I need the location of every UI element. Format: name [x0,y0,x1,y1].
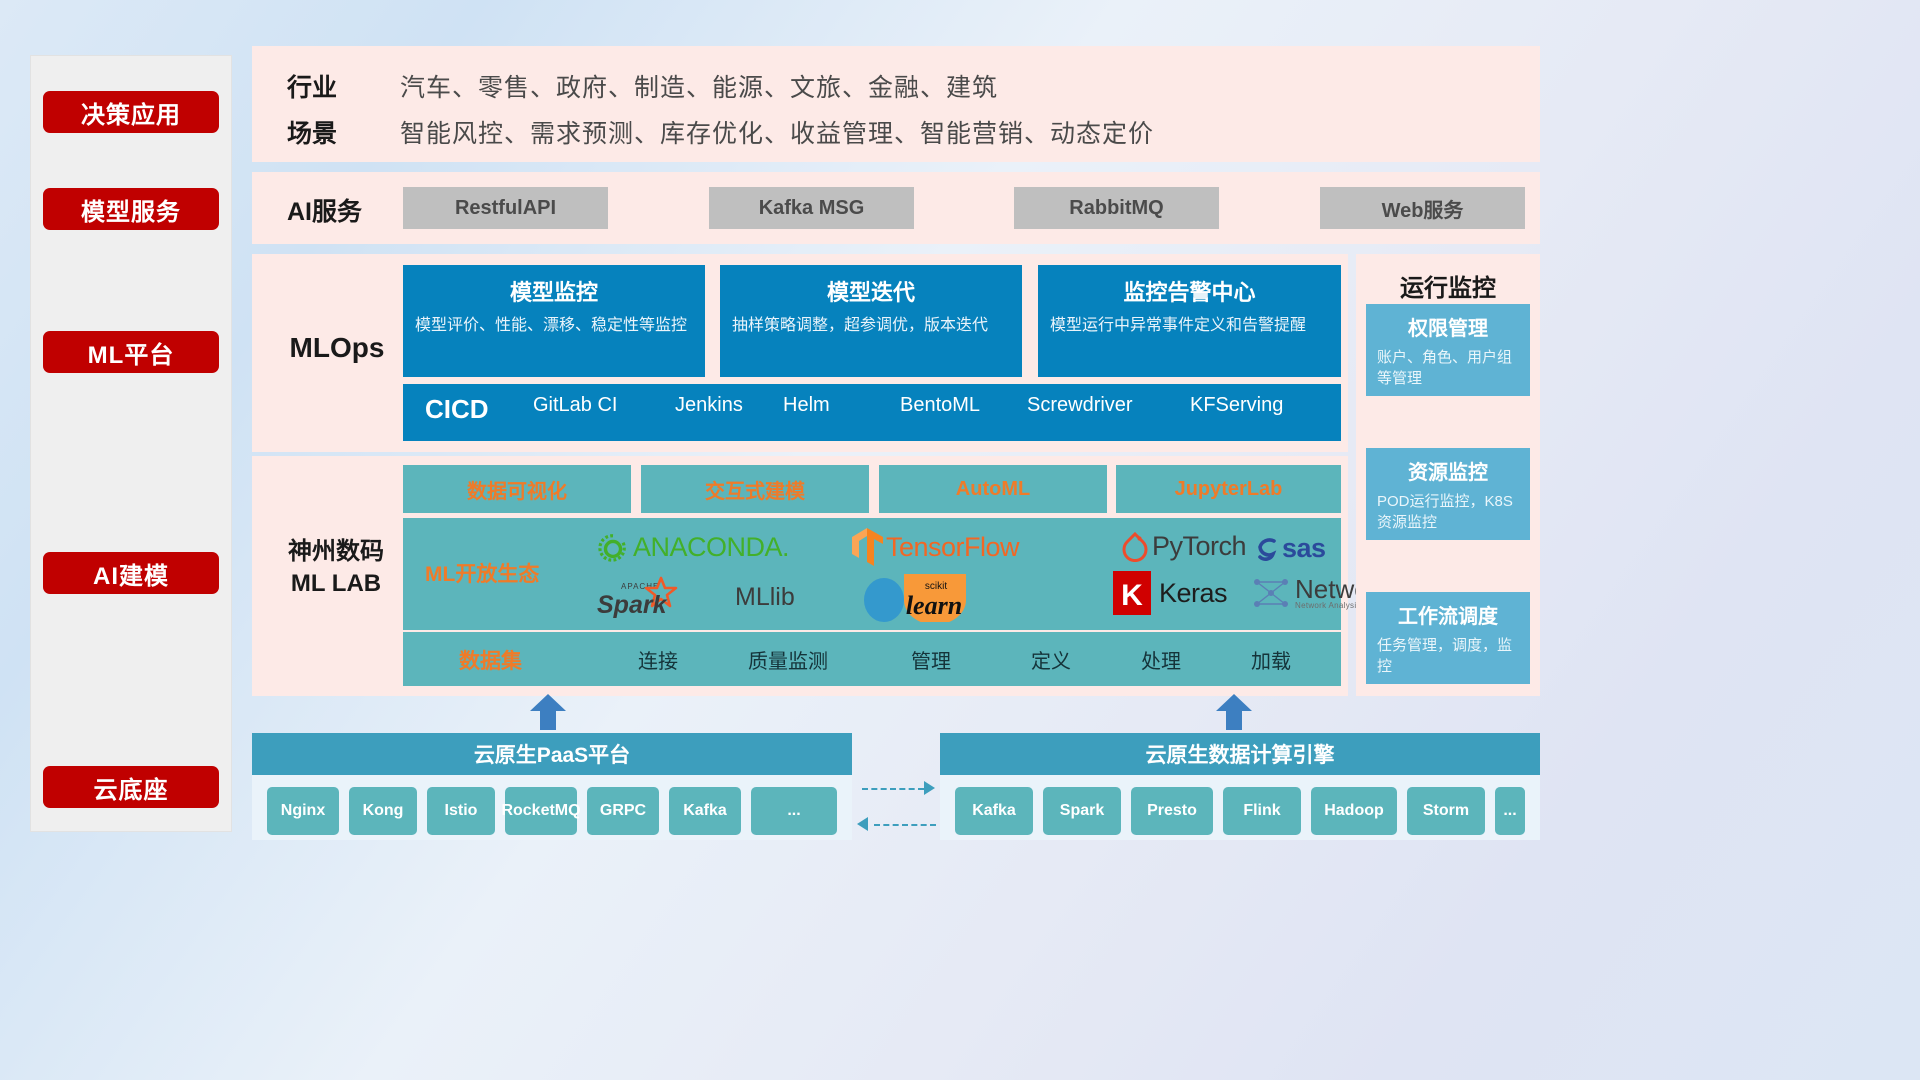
cicd-item-kfserving[interactable]: KFServing [1190,394,1286,417]
dataset-item-load[interactable]: 加载 [1216,645,1326,674]
sas-wordmark: sas [1282,533,1326,564]
paas-chip-kafka[interactable]: Kafka [669,787,741,835]
anaconda-icon [598,533,628,563]
sas-swirl-icon [1253,535,1281,563]
scikit-learn-icon: scikit learn [858,572,986,622]
mlops-card-title: 监控告警中心 [1038,275,1341,307]
compute-chip-flink[interactable]: Flink [1223,787,1301,835]
ai-service-panel: AI服务 RestfulAPI Kafka MSG RabbitMQ Web服务 [252,172,1540,244]
compute-chip-kafka[interactable]: Kafka [955,787,1033,835]
monitor-card-title: 工作流调度 [1366,600,1530,629]
ml-lab-label-line2: ML LAB [270,568,402,600]
paas-chip-nginx[interactable]: Nginx [267,787,339,835]
ml-lab-label-line1: 神州数码 [270,536,402,568]
industry-scenario-panel: 行业 汽车、零售、政府、制造、能源、文旅、金融、建筑 场景 智能风控、需求预测、… [252,46,1540,162]
pytorch-logo: PyTorch [1121,530,1246,562]
monitor-card-title: 权限管理 [1366,312,1530,341]
tab-label: 交互式建模 [705,475,805,504]
dataset-label: 数据集 [459,645,522,675]
compute-chip-more[interactable]: ... [1495,787,1525,835]
service-chip-kafka-msg[interactable]: Kafka MSG [709,187,914,229]
layer-chip-ml-platform[interactable]: ML平台 [43,331,219,373]
paas-chip-istio[interactable]: Istio [427,787,495,835]
spark-icon: APACHE Spark [597,576,729,618]
mlops-panel: MLOps 模型监控 模型评价、性能、漂移、稳定性等监控 模型迭代 抽样策略调整… [252,254,1348,452]
mlops-card-desc: 模型运行中异常事件定义和告警提醒 [1050,314,1329,337]
cicd-title: CICD [425,394,489,425]
layer-chip-cloud-base[interactable]: 云底座 [43,766,219,808]
layer-chip-label: ML平台 [88,335,175,370]
cicd-bar: CICD GitLab CI Jenkins Helm BentoML Scre… [403,384,1341,441]
compute-chip-storm[interactable]: Storm [1407,787,1485,835]
service-chip-label: Kafka MSG [759,197,865,220]
anaconda-logo: ANACONDA. [598,532,789,563]
monitor-card-resource[interactable]: 资源监控 POD运行监控，K8S资源监控 [1366,448,1530,540]
up-arrow-compute [1214,694,1254,730]
layer-chip-label: 模型服务 [81,192,181,227]
cicd-item-jenkins[interactable]: Jenkins [675,394,771,417]
layer-chip-label: 决策应用 [81,95,181,130]
arrow-compute-to-paas [874,824,936,826]
compute-engine-title: 云原生数据计算引擎 [940,733,1540,775]
svg-text:K: K [1121,579,1143,612]
cicd-item-bentoml[interactable]: BentoML [900,394,996,417]
pytorch-wordmark: PyTorch [1152,531,1246,562]
compute-engine-box: 云原生数据计算引擎 Kafka Spark Presto Flink Hadoo… [940,733,1540,840]
layer-chip-model-service[interactable]: 模型服务 [43,188,219,230]
layer-chip-ai-modeling[interactable]: AI建模 [43,552,219,594]
cicd-item-helm[interactable]: Helm [783,394,879,417]
keras-icon: K [1113,571,1151,615]
service-chip-rabbitmq[interactable]: RabbitMQ [1014,187,1219,229]
arrow-head-right [924,781,935,795]
mlops-card-desc: 抽样策略调整，超参调优，版本迭代 [732,314,1010,337]
layer-chip-label: AI建模 [93,556,169,591]
runtime-monitoring-panel: 运行监控 权限管理 账户、角色、用户组等管理 资源监控 POD运行监控，K8S资… [1356,254,1540,696]
compute-chip-presto[interactable]: Presto [1131,787,1213,835]
mlops-card-model-iteration[interactable]: 模型迭代 抽样策略调整，超参调优，版本迭代 [720,265,1022,377]
keras-wordmark: Keras [1159,578,1227,609]
dataset-item-quality[interactable]: 质量监测 [733,645,843,674]
dataset-item-define[interactable]: 定义 [996,645,1106,674]
tensorflow-wordmark: TensorFlow [886,532,1019,563]
tab-label: AutoML [956,478,1030,501]
tensorflow-logo: TensorFlow [852,528,1019,566]
scenario-values: 智能风控、需求预测、库存优化、收益管理、智能营销、动态定价 [400,114,1154,150]
monitor-card-desc: 账户、角色、用户组等管理 [1377,347,1519,389]
compute-chip-spark[interactable]: Spark [1043,787,1121,835]
up-arrow-paas [528,694,568,730]
tab-data-visualization[interactable]: 数据可视化 [403,465,631,513]
dataset-band: 数据集 连接 质量监测 管理 定义 处理 加载 [403,632,1341,686]
monitor-card-permission[interactable]: 权限管理 账户、角色、用户组等管理 [1366,304,1530,396]
dataset-item-manage[interactable]: 管理 [876,645,986,674]
scikit-learn-logo: scikit learn [858,572,986,622]
ml-lab-label: 神州数码 ML LAB [270,536,402,601]
svg-text:APACHE: APACHE [621,582,659,591]
dataset-item-connect[interactable]: 连接 [603,645,713,674]
paas-chip-rocketmq[interactable]: RocketMQ [505,787,577,835]
svg-text:learn: learn [906,591,962,620]
service-chip-label: RestfulAPI [455,197,556,220]
paas-chip-more[interactable]: ... [751,787,837,835]
pytorch-icon [1121,530,1149,562]
tab-automl[interactable]: AutoML [879,465,1107,513]
mlops-card-model-monitoring[interactable]: 模型监控 模型评价、性能、漂移、稳定性等监控 [403,265,705,377]
mlops-card-desc: 模型评价、性能、漂移、稳定性等监控 [415,314,693,337]
monitor-card-title: 资源监控 [1366,456,1530,485]
keras-logo: K Keras [1113,571,1227,615]
ai-modeling-panel: 神州数码 ML LAB 数据可视化 交互式建模 AutoML JupyterLa… [252,456,1348,696]
mlops-card-title: 模型迭代 [720,275,1022,307]
industry-values: 汽车、零售、政府、制造、能源、文旅、金融、建筑 [400,68,998,104]
dataset-item-process[interactable]: 处理 [1106,645,1216,674]
scenario-label: 场景 [287,114,337,150]
ml-ecosystem-label: ML开放生态 [425,558,539,588]
svg-text:Spark: Spark [597,591,668,618]
monitor-card-workflow[interactable]: 工作流调度 任务管理，调度，监控 [1366,592,1530,684]
tensorflow-icon [852,528,883,566]
monitor-card-desc: POD运行监控，K8S资源监控 [1377,491,1519,533]
ai-service-label: AI服务 [287,192,362,228]
arrow-paas-to-compute [862,788,924,790]
networkx-graph-icon [1249,574,1291,612]
ml-ecosystem-band: ML开放生态 ANACONDA. TensorFlow PyTorc [403,518,1341,630]
mllib-wordmark: MLlib [735,583,795,612]
monitor-card-desc: 任务管理，调度，监控 [1377,635,1519,677]
paas-chip-kong[interactable]: Kong [349,787,417,835]
cicd-item-screwdriver[interactable]: Screwdriver [1027,394,1123,417]
tab-label: 数据可视化 [467,475,567,504]
anaconda-wordmark: ANACONDA. [633,532,789,563]
spark-mllib-logo: APACHE Spark MLlib [597,576,795,618]
layer-chip-decision[interactable]: 决策应用 [43,91,219,133]
mlops-label: MLOps [277,332,397,364]
arrow-head-left [857,817,868,831]
tab-jupyterlab[interactable]: JupyterLab [1116,465,1341,513]
service-chip-web-service[interactable]: Web服务 [1320,187,1525,229]
paas-platform-box: 云原生PaaS平台 Nginx Kong Istio RocketMQ GRPC… [252,733,852,840]
paas-chip-grpc[interactable]: GRPC [587,787,659,835]
industry-label: 行业 [287,68,337,104]
service-chip-restfulapi[interactable]: RestfulAPI [403,187,608,229]
sas-logo: sas [1253,533,1326,564]
service-chip-label: RabbitMQ [1069,197,1163,220]
cicd-item-gitlab-ci[interactable]: GitLab CI [533,394,629,417]
tab-interactive-modeling[interactable]: 交互式建模 [641,465,869,513]
layer-rail: 决策应用 模型服务 ML平台 AI建模 云底座 [30,55,232,832]
runtime-monitoring-title: 运行监控 [1356,268,1540,303]
service-chip-label: Web服务 [1382,194,1464,223]
paas-platform-title: 云原生PaaS平台 [252,733,852,775]
mlops-card-title: 模型监控 [403,275,705,307]
mlops-card-alert-center[interactable]: 监控告警中心 模型运行中异常事件定义和告警提醒 [1038,265,1341,377]
tab-label: JupyterLab [1175,478,1283,501]
layer-chip-label: 云底座 [94,770,169,805]
compute-chip-hadoop[interactable]: Hadoop [1311,787,1397,835]
